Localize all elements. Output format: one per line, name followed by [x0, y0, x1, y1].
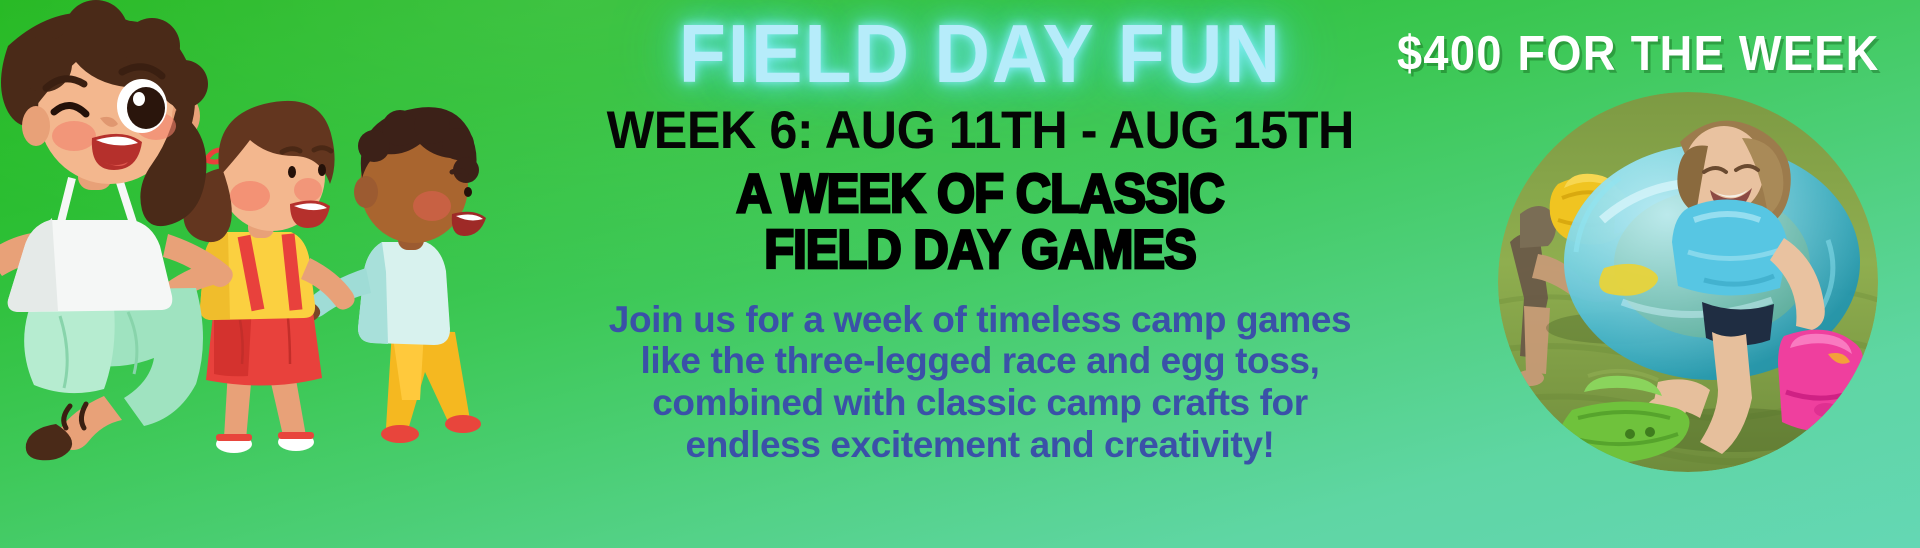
tagline-line-1: A WEEK OF CLASSIC — [736, 167, 1224, 223]
price-period: FOR THE WEEK — [1518, 27, 1880, 81]
page-title: FIELD DAY FUN — [678, 14, 1281, 94]
description-line-3: combined with classic camp crafts for — [609, 382, 1351, 424]
center-content: FIELD DAY FUN WEEK 6: AUG 11TH - AUG 15T… — [520, 0, 1440, 548]
description-line-2: like the three-legged race and egg toss, — [609, 340, 1351, 382]
price-amount: $400 — [1397, 27, 1503, 81]
description-line-1: Join us for a week of timeless camp game… — [609, 299, 1351, 341]
camp-promo-banner: FIELD DAY FUN WEEK 6: AUG 11TH - AUG 15T… — [0, 0, 1920, 548]
pink-bucket — [1778, 330, 1863, 432]
tagline: A WEEK OF CLASSIC FIELD DAY GAMES — [736, 167, 1224, 279]
camp-photo — [1498, 92, 1878, 472]
tagline-line-2: FIELD DAY GAMES — [736, 223, 1224, 279]
children-illustration — [0, 0, 520, 548]
week-subtitle: WEEK 6: AUG 11TH - AUG 15TH — [606, 104, 1353, 157]
description-line-4: endless excitement and creativity! — [609, 424, 1351, 466]
description-text: Join us for a week of timeless camp game… — [609, 299, 1351, 466]
price-label: $400FOR THE WEEK — [1397, 26, 1880, 82]
